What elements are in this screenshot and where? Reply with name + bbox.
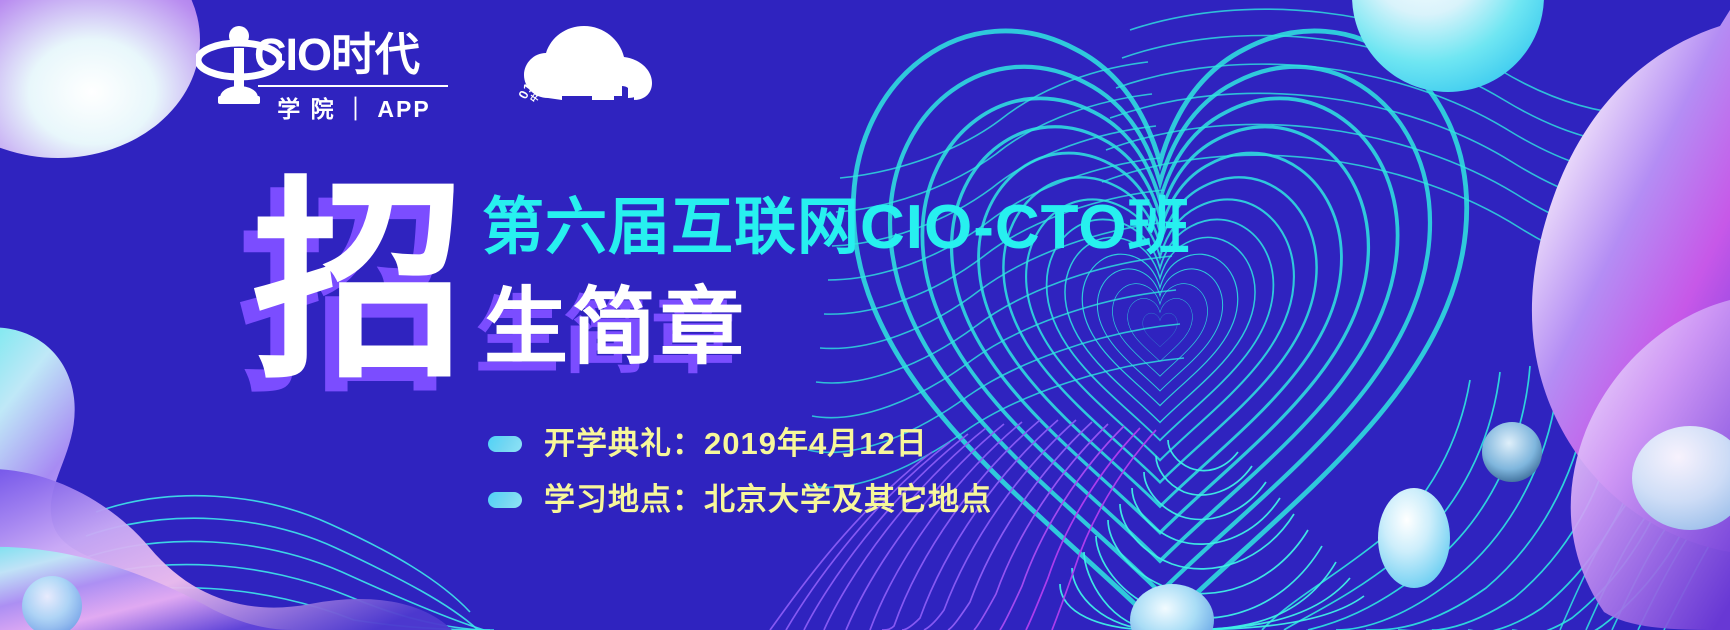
info-text: 开学典礼：2019年4月12日 [544,427,928,461]
headline-line-2: 生简章 [484,285,748,369]
headline-line-1: 第六届互联网CIO-CTO班 [482,197,1191,259]
info-text: 学习地点：北京大学及其它地点 [544,483,992,517]
logo-row: CIO时代 学 院 ｜ APP 01010101010101010 中国新一代I… [196,22,664,128]
pill-bullet-icon [488,492,522,508]
china-it-alliance-logo: 01010101010101010 中国新一代IT产业推进联盟 [514,22,664,128]
info-row: 开学典礼：2019年4月12日 [488,422,992,466]
cio-logo-subtitle: 学 院 ｜ APP [258,90,450,124]
headline-block: 招 第六届互联网CIO-CTO班 生简章 [252,175,1152,405]
headline-big-word: 招 [252,175,467,390]
info-list: 开学典礼：2019年4月12日 学习地点：北京大学及其它地点 [488,422,992,534]
cio-logo-wordmark: CIO时代 [254,32,419,77]
sphere-small-dark [1482,422,1542,482]
promo-banner: CIO时代 学 院 ｜ APP 01010101010101010 中国新一代I… [0,0,1730,630]
cio-logo-divider [258,85,448,87]
pill-bullet-icon [488,436,522,452]
info-row: 学习地点：北京大学及其它地点 [488,478,992,522]
cio-times-academy-logo: CIO时代 学 院 ｜ APP [196,22,452,122]
sphere-small-mid-right [1378,488,1450,588]
